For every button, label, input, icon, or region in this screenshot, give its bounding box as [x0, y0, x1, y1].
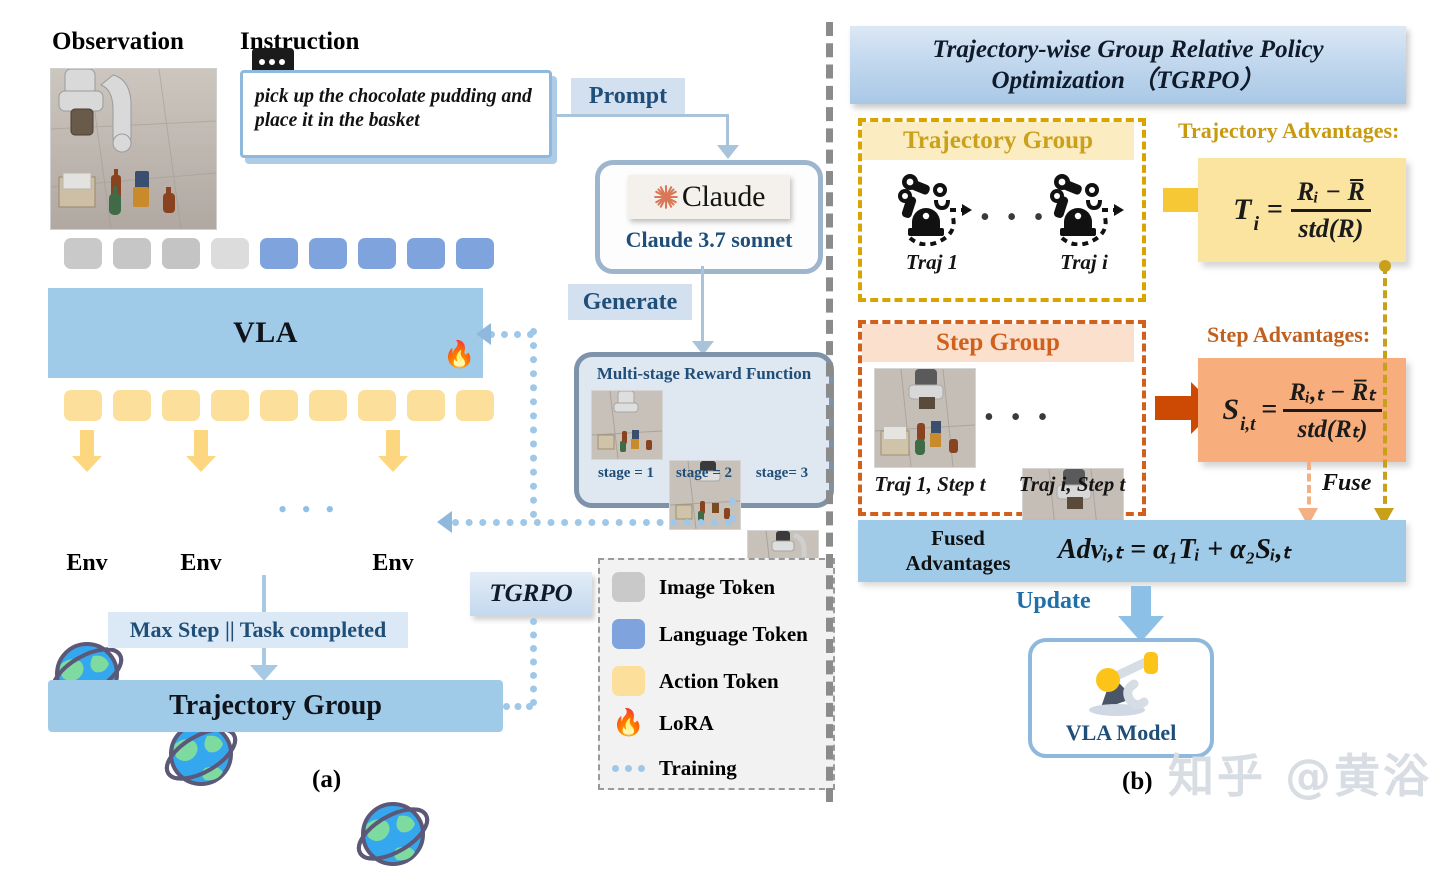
action-token-swatch: [612, 666, 645, 696]
action-arrow-down: [80, 430, 94, 457]
action-token: [309, 390, 347, 421]
globe-icon: [353, 794, 433, 874]
env-label: Env: [161, 550, 241, 577]
step-formula-lhs: S: [1222, 393, 1239, 427]
panel-b-title: Trajectory-wise Group Relative Policy Op…: [850, 26, 1406, 104]
step-advantage-box: S i,t = Rᵢ,ₜ − R̅ₜ std(Rₜ): [1198, 358, 1406, 462]
traj-adv-dashed-line: [1383, 266, 1387, 516]
stage-scene-icon: [592, 391, 662, 459]
action-token: [113, 390, 151, 421]
legend-label: LoRA: [659, 711, 714, 736]
observation-title: Observation: [52, 28, 184, 56]
instruction-text: pick up the chocolate pudding and place …: [243, 73, 549, 133]
instruction-bubble: pick up the chocolate pudding and place …: [240, 70, 552, 158]
legend-item: Language Token: [612, 619, 808, 649]
language-token: [407, 238, 445, 269]
fused-label-line2: Advantages: [905, 551, 1010, 576]
input-token-row: [64, 238, 494, 269]
panel-b-title-line1: Trajectory-wise Group Relative Policy: [932, 34, 1323, 65]
step-scene-icon: [875, 369, 975, 467]
tgrpo-chip: TGRPO: [470, 572, 592, 616]
action-arrow-down: [386, 430, 400, 457]
training-dotted-line-horizontal: [488, 331, 534, 338]
legend-item: Training: [612, 756, 737, 781]
panel-b-label: (b): [1122, 768, 1153, 796]
reward-stage-label: stage = 1: [585, 465, 667, 482]
language-token-swatch: [612, 619, 645, 649]
generate-label: Generate: [568, 284, 692, 320]
language-token: [358, 238, 396, 269]
env-to-maxstep-connector: [262, 575, 266, 615]
fused-advantages-bar: Fused Advantages Advᵢ,ₜ = α₁Tᵢ + α₂Sᵢ,ₜ: [858, 520, 1406, 582]
panel-b-title-line2: Optimization （TGRPO）: [992, 65, 1265, 96]
step-label: Traj i, Step t: [1006, 472, 1138, 497]
claude-logo: Claude: [628, 175, 790, 219]
action-token: [456, 390, 494, 421]
max-step-label: Max Step || Task completed: [108, 612, 408, 648]
claude-logo-text: Claude: [682, 180, 765, 214]
legend-label: Training: [659, 756, 737, 781]
env-globe-icon: [353, 794, 433, 874]
legend-label: Language Token: [659, 622, 808, 647]
training-dotted-swatch: [612, 765, 645, 772]
env-label: Env: [353, 550, 433, 577]
action-token: [64, 390, 102, 421]
action-token-row: [64, 390, 494, 421]
traj-formula-lhs: T: [1233, 193, 1251, 227]
image-token-swatch: [612, 572, 645, 602]
update-label: Update: [1016, 588, 1091, 615]
fused-formula: Advᵢ,ₜ = α₁Tᵢ + α₂Sᵢ,ₜ: [1058, 532, 1291, 566]
maxstep-arrow-down: [262, 648, 266, 666]
robot-arm-model-icon: [1072, 650, 1172, 718]
trajectory-group-box: Trajectory Group • • •: [858, 118, 1146, 302]
legend-item: Action Token: [612, 666, 779, 696]
trajectory-group-label: Trajectory Group: [169, 690, 382, 722]
training-dotted-line-horizontal: [452, 519, 732, 526]
reward-stage-label: stage = 2: [663, 465, 745, 482]
step-advantages-label: Step Advantages:: [1207, 322, 1370, 348]
step-group-box: Step Group • • •: [858, 320, 1146, 516]
fire-icon: 🔥: [612, 710, 645, 736]
step-label: Traj 1, Step t: [864, 472, 996, 497]
panel-divider: [826, 22, 833, 802]
image-token: [64, 238, 102, 269]
prompt-label: Prompt: [571, 78, 685, 114]
language-token: [456, 238, 494, 269]
action-token: [407, 390, 445, 421]
language-token: [260, 238, 298, 269]
training-dotted-line-vertical: [530, 328, 537, 518]
traj-label: Traj 1: [882, 250, 982, 275]
training-arrow-to-env: [437, 511, 452, 533]
legend-label: Action Token: [659, 669, 779, 694]
traj-formula-eq: =: [1267, 194, 1283, 226]
reward-function-module: Multi-stage Reward Function: [574, 352, 834, 508]
generate-arrow-down: [701, 266, 704, 342]
step-ellipsis: • • •: [984, 402, 1052, 434]
bubble-dots-icon: [259, 59, 285, 65]
training-dotted-line-vertical: [729, 498, 736, 522]
step-formula-denominator: std(Rₜ): [1292, 412, 1374, 444]
traj-label: Traj i: [1034, 250, 1134, 275]
prompt-arrow-down: [726, 114, 729, 146]
traj-formula-denominator: std(R): [1292, 212, 1369, 244]
trajectory-group-bar: Trajectory Group: [48, 680, 503, 732]
tgrpo-label: TGRPO: [489, 580, 572, 608]
training-arrow-to-vla: [476, 323, 491, 345]
env-ellipsis: • • •: [278, 495, 338, 525]
step-formula-eq: =: [1261, 394, 1277, 426]
fused-advantages-label: Fused Advantages: [868, 526, 1048, 576]
step-group-header: Step Group: [862, 324, 1134, 362]
image-token: [211, 238, 249, 269]
training-dotted-line-vertical: [530, 618, 537, 706]
action-arrow-down: [194, 430, 208, 457]
image-token: [162, 238, 200, 269]
image-token: [113, 238, 151, 269]
reward-function-title: Multi-stage Reward Function: [579, 362, 829, 386]
action-token: [358, 390, 396, 421]
legend-box: Image Token Language Token Action Token …: [598, 558, 835, 790]
trajectory-advantages-label: Trajectory Advantages:: [1178, 118, 1399, 144]
env-label: Env: [47, 550, 127, 577]
reward-stage-thumb: [591, 390, 663, 460]
step-thumb: [874, 368, 976, 468]
lora-fire-icon: 🔥: [443, 342, 475, 368]
claude-model-label: Claude 3.7 sonnet: [600, 225, 818, 255]
legend-item: Image Token: [612, 572, 775, 602]
legend-label: Image Token: [659, 575, 775, 600]
observation-image: [50, 68, 217, 230]
prompt-connector: [556, 114, 728, 117]
claude-starburst-icon: [653, 184, 679, 210]
claude-module: Claude Claude 3.7 sonnet: [595, 160, 823, 274]
trajectory-group-header: Trajectory Group: [862, 122, 1134, 160]
panel-a-label: (a): [312, 766, 341, 794]
reward-stage-label: stage= 3: [741, 465, 823, 482]
vla-label: VLA: [233, 316, 298, 350]
traj-formula-lhs-sub: i: [1253, 213, 1259, 236]
update-arrow-down: [1118, 586, 1164, 642]
trajectory-advantage-box: T i = Rᵢ − R̅ std(R): [1198, 158, 1406, 262]
step-formula-lhs-sub: i,t: [1240, 414, 1255, 436]
action-token: [211, 390, 249, 421]
watermark: 知乎 @黄浴: [1168, 740, 1432, 806]
action-token: [162, 390, 200, 421]
action-token: [260, 390, 298, 421]
robot-scene-illustration: [51, 69, 216, 229]
robot-arm-icon: [882, 166, 982, 246]
robot-arm-icon: [1034, 166, 1134, 246]
fuse-label: Fuse: [1322, 470, 1371, 497]
language-token: [309, 238, 347, 269]
fused-label-line1: Fused: [931, 526, 985, 551]
step-formula-numerator: Rᵢ,ₜ − R̅ₜ: [1283, 377, 1381, 409]
training-dotted-line-horizontal: [503, 703, 533, 710]
vla-module: VLA: [48, 288, 483, 378]
traj-formula-numerator: Rᵢ − R̅: [1291, 177, 1371, 209]
legend-item: 🔥 LoRA: [612, 710, 714, 736]
